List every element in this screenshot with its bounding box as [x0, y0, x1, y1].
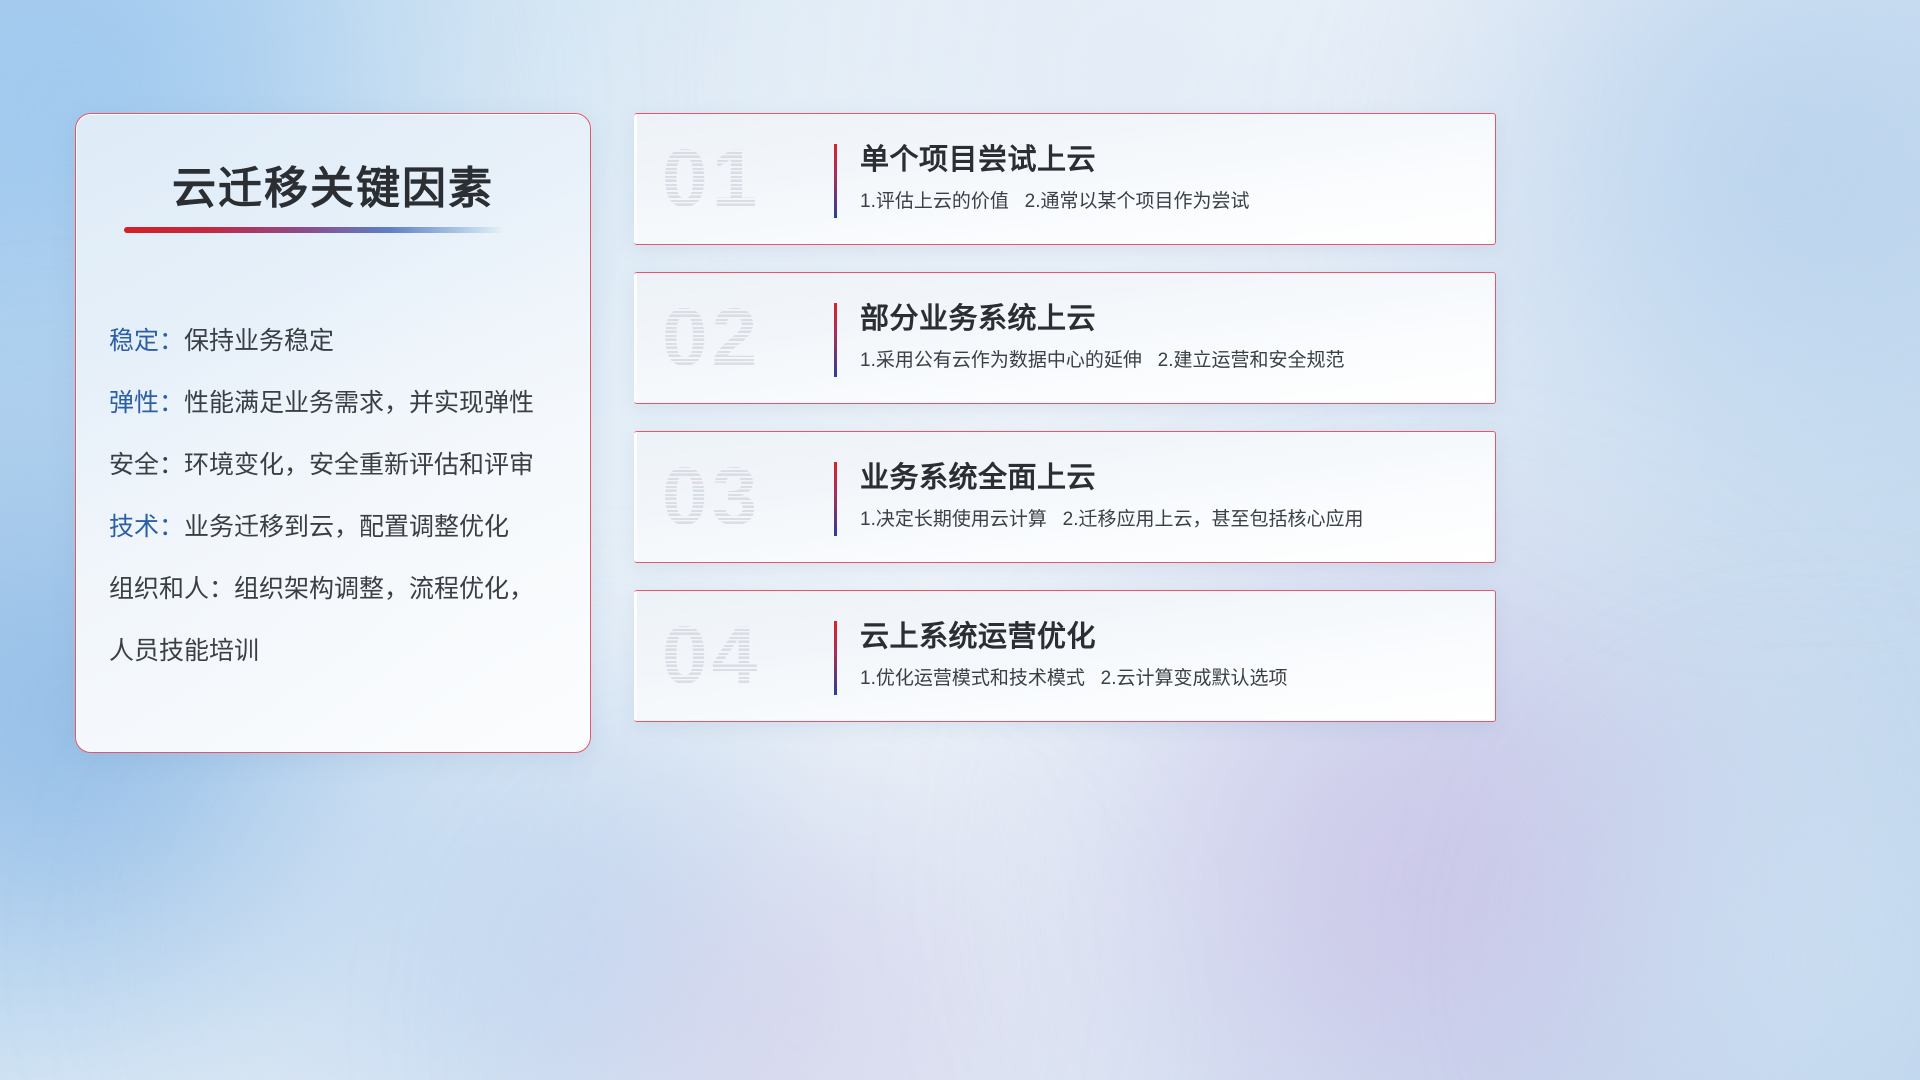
step-card-body: 业务系统全面上云 1.决定长期使用云计算 2.迁移应用上云，甚至包括核心应用 [860, 458, 1473, 533]
step-number-watermark: 04 [662, 609, 761, 703]
step-card-body: 单个项目尝试上云 1.评估上云的价值 2.通常以某个项目作为尝试 [860, 140, 1473, 215]
step-number-watermark: 01 [662, 132, 761, 226]
step-card[interactable]: 01 01 单个项目尝试上云 1.评估上云的价值 2.通常以某个项目作为尝试 [634, 113, 1496, 245]
factor-item: 组织和人：组织架构调整，流程优化， [109, 558, 564, 620]
factor-item: 安全：环境变化，安全重新评估和评审 [109, 434, 564, 496]
step-divider-bar [834, 621, 837, 695]
panel-title: 云迁移关键因素 [76, 152, 590, 216]
factor-value: 人员技能培训 [109, 637, 259, 665]
slide-canvas: 云迁移关键因素 稳定：保持业务稳定 弹性：性能满足业务需求，并实现弹性 安全：环… [0, 0, 1920, 1080]
step-title: 云上系统运营优化 [860, 617, 1473, 657]
step-subtitle: 1.评估上云的价值 2.通常以某个项目作为尝试 [860, 189, 1473, 215]
factor-item: 稳定：保持业务稳定 [109, 310, 564, 372]
step-card-body: 云上系统运营优化 1.优化运营模式和技术模式 2.云计算变成默认选项 [860, 617, 1473, 692]
factor-value: 环境变化，安全重新评估和评审 [184, 451, 534, 479]
factor-label: 安全： [109, 451, 184, 479]
factor-label: 技术： [109, 513, 184, 541]
factor-label: 组织和人： [109, 575, 234, 603]
step-divider-bar [834, 303, 837, 377]
step-card[interactable]: 04 04 云上系统运营优化 1.优化运营模式和技术模式 2.云计算变成默认选项 [634, 590, 1496, 722]
step-number-watermark: 02 [662, 291, 761, 385]
step-subtitle: 1.决定长期使用云计算 2.迁移应用上云，甚至包括核心应用 [860, 507, 1473, 533]
key-factors-panel: 云迁移关键因素 稳定：保持业务稳定 弹性：性能满足业务需求，并实现弹性 安全：环… [75, 113, 591, 753]
factor-item: 弹性：性能满足业务需求，并实现弹性 [109, 372, 564, 434]
step-divider-bar [834, 462, 837, 536]
step-title: 单个项目尝试上云 [860, 140, 1473, 180]
factor-list: 稳定：保持业务稳定 弹性：性能满足业务需求，并实现弹性 安全：环境变化，安全重新… [109, 310, 564, 682]
step-title: 部分业务系统上云 [860, 299, 1473, 339]
step-subtitle: 1.采用公有云作为数据中心的延伸 2.建立运营和安全规范 [860, 348, 1473, 374]
migration-steps-list: 01 01 单个项目尝试上云 1.评估上云的价值 2.通常以某个项目作为尝试 0… [634, 113, 1496, 749]
factor-value: 组织架构调整，流程优化， [234, 575, 534, 603]
step-divider-bar [834, 144, 837, 218]
factor-label: 弹性： [109, 389, 184, 417]
step-card-body: 部分业务系统上云 1.采用公有云作为数据中心的延伸 2.建立运营和安全规范 [860, 299, 1473, 374]
factor-value: 业务迁移到云，配置调整优化 [184, 513, 509, 541]
factor-value: 保持业务稳定 [184, 327, 334, 355]
factor-item-continuation: 人员技能培训 [109, 620, 564, 682]
step-number-watermark: 03 [662, 450, 761, 544]
step-card[interactable]: 03 03 业务系统全面上云 1.决定长期使用云计算 2.迁移应用上云，甚至包括… [634, 431, 1496, 563]
factor-label: 稳定： [109, 327, 184, 355]
factor-value: 性能满足业务需求，并实现弹性 [184, 389, 534, 417]
step-title: 业务系统全面上云 [860, 458, 1473, 498]
factor-item: 技术：业务迁移到云，配置调整优化 [109, 496, 564, 558]
background-blob [1500, 700, 1920, 1080]
background-blob [120, 700, 1020, 1080]
title-underline-rule [124, 227, 504, 233]
background-blob [430, 820, 1170, 1080]
step-card[interactable]: 02 02 部分业务系统上云 1.采用公有云作为数据中心的延伸 2.建立运营和安… [634, 272, 1496, 404]
step-subtitle: 1.优化运营模式和技术模式 2.云计算变成默认选项 [860, 666, 1473, 692]
